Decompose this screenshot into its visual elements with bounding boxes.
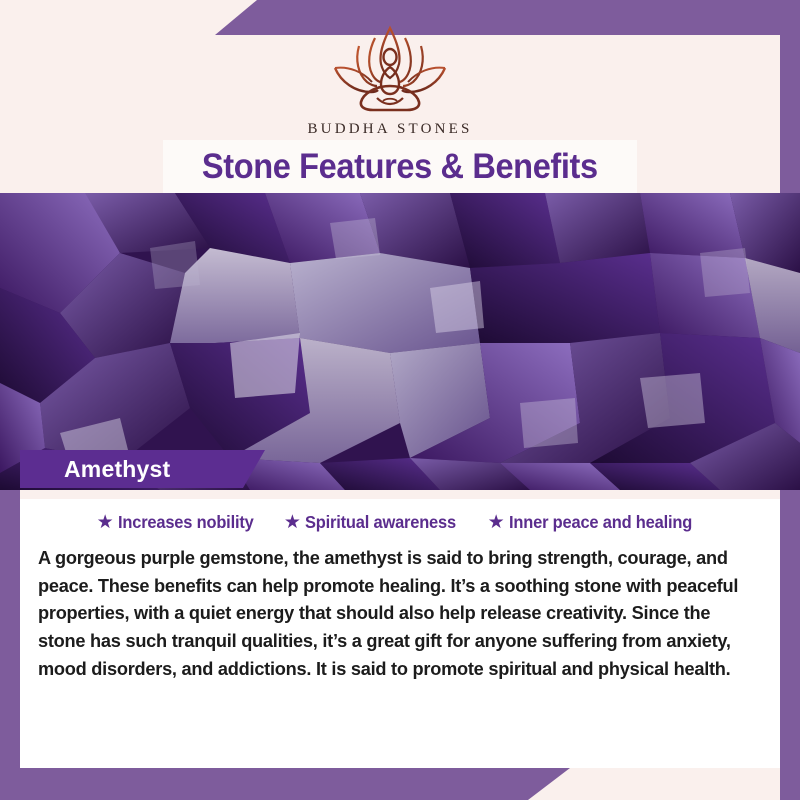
benefit-label: Spiritual awareness xyxy=(305,512,456,533)
page-title: Stone Features & Benefits xyxy=(202,147,598,187)
title-strip: Stone Features & Benefits xyxy=(163,140,637,193)
benefit-label: Inner peace and healing xyxy=(509,512,692,533)
header: BUDDHA STONES Stone Features & Benefits xyxy=(0,0,780,193)
benefit-item: ★ Spiritual awareness xyxy=(284,512,466,533)
star-icon: ★ xyxy=(488,513,505,532)
crystal-illustration xyxy=(0,193,800,490)
accent-band-left xyxy=(0,489,20,800)
brand-logo: BUDDHA STONES xyxy=(0,24,780,138)
brand-name: BUDDHA STONES xyxy=(0,121,780,138)
amethyst-crystal-cluster-photo xyxy=(0,193,800,490)
benefit-label: Increases nobility xyxy=(118,512,254,533)
panel-top-edge xyxy=(20,490,780,499)
stone-description: A gorgeous purple gemstone, the amethyst… xyxy=(38,545,762,683)
benefit-item: ★ Inner peace and healing xyxy=(488,512,704,533)
benefit-item: ★ Increases nobility xyxy=(97,512,262,533)
accent-band-bottom xyxy=(0,768,570,800)
lotus-meditation-figure-icon xyxy=(315,24,465,119)
infographic-page: BUDDHA STONES Stone Features & Benefits xyxy=(0,0,800,800)
content-panel: ★ Increases nobility ★ Spiritual awarene… xyxy=(20,490,780,768)
stone-name-banner: Amethyst xyxy=(20,450,265,488)
stone-name: Amethyst xyxy=(20,456,170,483)
star-icon: ★ xyxy=(284,513,301,532)
star-icon: ★ xyxy=(97,513,114,532)
